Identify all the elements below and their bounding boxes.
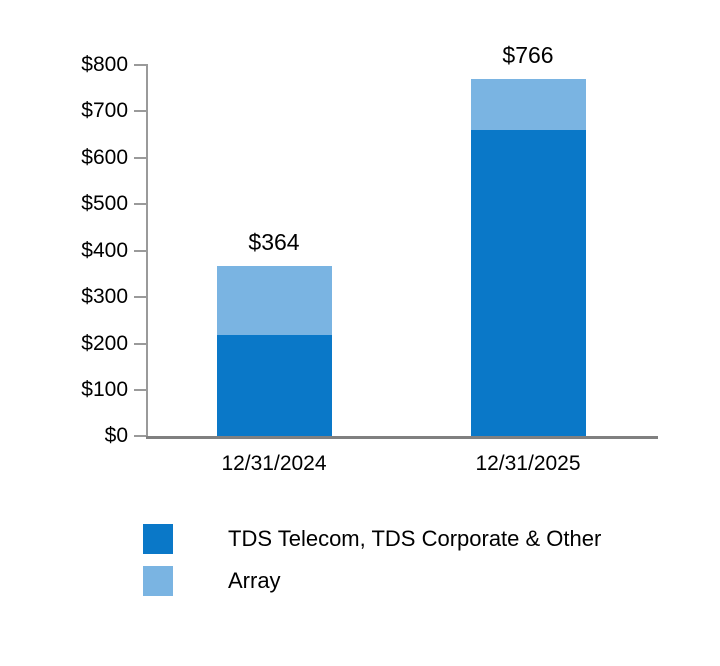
y-axis-tick [134, 110, 146, 112]
y-axis-label-200: $200 [0, 333, 128, 354]
bar-segment-array[interactable] [217, 266, 332, 335]
y-axis-tick-label: $500 [10, 193, 128, 214]
legend-item-tds-telecom[interactable]: TDS Telecom, TDS Corporate & Other [143, 518, 601, 560]
plot-area: $800 $700 $600 $500 $400 $300 $200 $100 [0, 0, 720, 500]
y-axis-tick-label: $100 [10, 379, 128, 400]
stacked-bar-chart: $800 $700 $600 $500 $400 $300 $200 $100 [0, 0, 720, 666]
y-axis-tick [134, 389, 146, 391]
legend-item-array[interactable]: Array [143, 560, 601, 602]
y-axis-label-400: $400 [0, 240, 128, 261]
y-axis-tick-label: $300 [10, 286, 128, 307]
y-axis-tick [134, 435, 146, 437]
bar-12-31-2025[interactable] [471, 79, 586, 436]
bar-total-label-12-31-2024: $364 [194, 231, 354, 254]
y-axis-label-300: $300 [0, 286, 128, 307]
y-axis-tick-label: $700 [10, 100, 128, 121]
legend-label: Array [228, 570, 281, 592]
y-axis-label-800: $800 [0, 54, 128, 75]
legend-swatch-icon [143, 524, 173, 554]
bar-segment-array[interactable] [471, 79, 586, 130]
y-axis-tick [134, 157, 146, 159]
chart-legend: TDS Telecom, TDS Corporate & Other Array [143, 518, 601, 602]
y-axis-tick [134, 203, 146, 205]
y-axis-tick [134, 296, 146, 298]
y-axis-label-0: $0 [0, 425, 128, 446]
x-axis-category-label-2: 12/31/2025 [418, 452, 638, 476]
y-axis-label-600: $600 [0, 147, 128, 168]
bar-total-label-12-31-2025: $766 [448, 44, 608, 67]
y-axis-label-100: $100 [0, 379, 128, 400]
y-axis-tick [134, 343, 146, 345]
y-axis-tick [134, 250, 146, 252]
y-axis-tick-label: $800 [10, 54, 128, 75]
legend-swatch-icon [143, 566, 173, 596]
bar-segment-tds-telecom[interactable] [217, 335, 332, 436]
legend-label: TDS Telecom, TDS Corporate & Other [228, 528, 601, 550]
y-axis-tick-label: $200 [10, 333, 128, 354]
y-axis-label-700: $700 [0, 100, 128, 121]
y-axis-label-500: $500 [0, 193, 128, 214]
y-axis-line [146, 64, 148, 437]
y-axis-tick-label: $400 [10, 240, 128, 261]
y-axis-tick-label: $0 [10, 425, 128, 446]
bar-segment-tds-telecom[interactable] [471, 130, 586, 436]
x-axis-category-label-1: 12/31/2024 [164, 452, 384, 476]
y-axis-tick [134, 64, 146, 66]
x-axis-line [146, 436, 658, 439]
y-axis-tick-label: $600 [10, 147, 128, 168]
bar-12-31-2024[interactable] [217, 266, 332, 436]
